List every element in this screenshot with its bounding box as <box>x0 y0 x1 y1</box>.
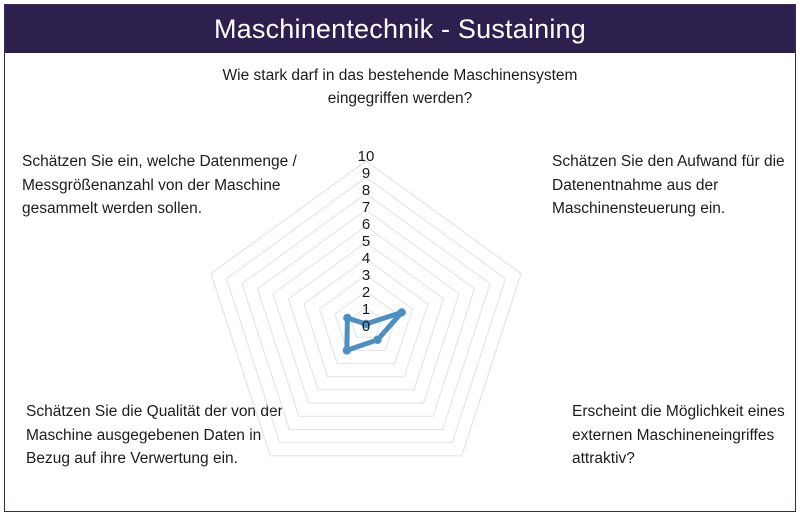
subtitle-line-1: Wie stark darf in das bestehende Maschin… <box>160 64 640 87</box>
radar-chart: 10 9 8 7 6 5 4 3 2 1 0 <box>195 135 540 495</box>
radar-data-point-5 <box>343 314 351 322</box>
radar-data-point-2 <box>397 308 405 316</box>
radar-grid-ring-7 <box>257 210 474 416</box>
radar-data-point-1 <box>362 320 370 328</box>
radar-grid-rings <box>211 161 521 456</box>
axis-label-externer-eingriff: Erscheint die Möglichkeit eines externen… <box>572 400 797 471</box>
radar-grid-ring-5 <box>288 243 443 390</box>
axis-label-aufwand-datenentnahme: Schätzen Sie den Aufwand für die Datenen… <box>552 150 792 221</box>
radar-grid-ring-10 <box>211 161 521 456</box>
page-title: Maschinentechnik - Sustaining <box>214 14 586 45</box>
radar-data-polygon <box>347 312 402 350</box>
subtitle-line-2: eingegriffen werden? <box>160 87 640 110</box>
radar-series-outline <box>347 312 402 350</box>
chart-question-subtitle: Wie stark darf in das bestehende Maschin… <box>160 64 640 111</box>
radar-data-point-3 <box>373 336 381 344</box>
radar-data-point-4 <box>343 346 351 354</box>
radar-chart-svg <box>195 135 540 495</box>
slide-title-bar: Maschinentechnik - Sustaining <box>5 5 795 53</box>
slide-canvas: Maschinentechnik - Sustaining Wie stark … <box>0 0 800 516</box>
